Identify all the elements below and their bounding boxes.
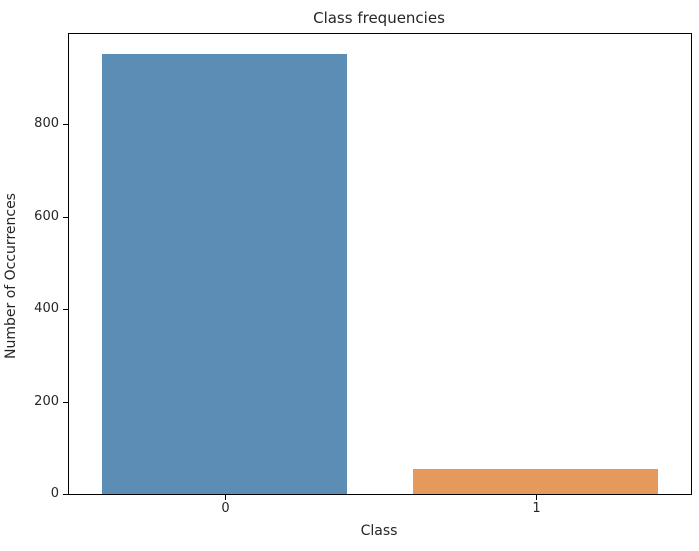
y-tick: 0 [63, 494, 69, 495]
x-axis-label: Class [68, 523, 690, 539]
y-tick: 600 [63, 217, 69, 218]
y-tick-label: 0 [51, 486, 59, 501]
x-tick-label: 1 [497, 501, 577, 516]
y-tick-label: 600 [34, 209, 59, 224]
x-tick: 0 [225, 494, 226, 500]
chart-title: Class frequencies [68, 8, 690, 28]
y-tick-label: 400 [34, 301, 59, 316]
y-tick: 800 [63, 124, 69, 125]
y-tick-label: 200 [34, 394, 59, 409]
figure-canvas: Class frequencies Number of Occurrences … [0, 0, 699, 551]
bar-class-1[interactable] [413, 469, 659, 494]
y-tick-label: 800 [34, 116, 59, 131]
x-tick-label: 0 [186, 501, 266, 516]
plot-axes: 0200400600800 01 [68, 33, 692, 495]
y-axis-label-text: Number of Occurrences [3, 193, 19, 359]
plot-area [69, 34, 691, 494]
bar-class-0[interactable] [102, 54, 348, 494]
y-tick: 400 [63, 309, 69, 310]
x-tick: 1 [536, 494, 537, 500]
y-axis-label: Number of Occurrences [0, 0, 22, 551]
y-tick: 200 [63, 402, 69, 403]
